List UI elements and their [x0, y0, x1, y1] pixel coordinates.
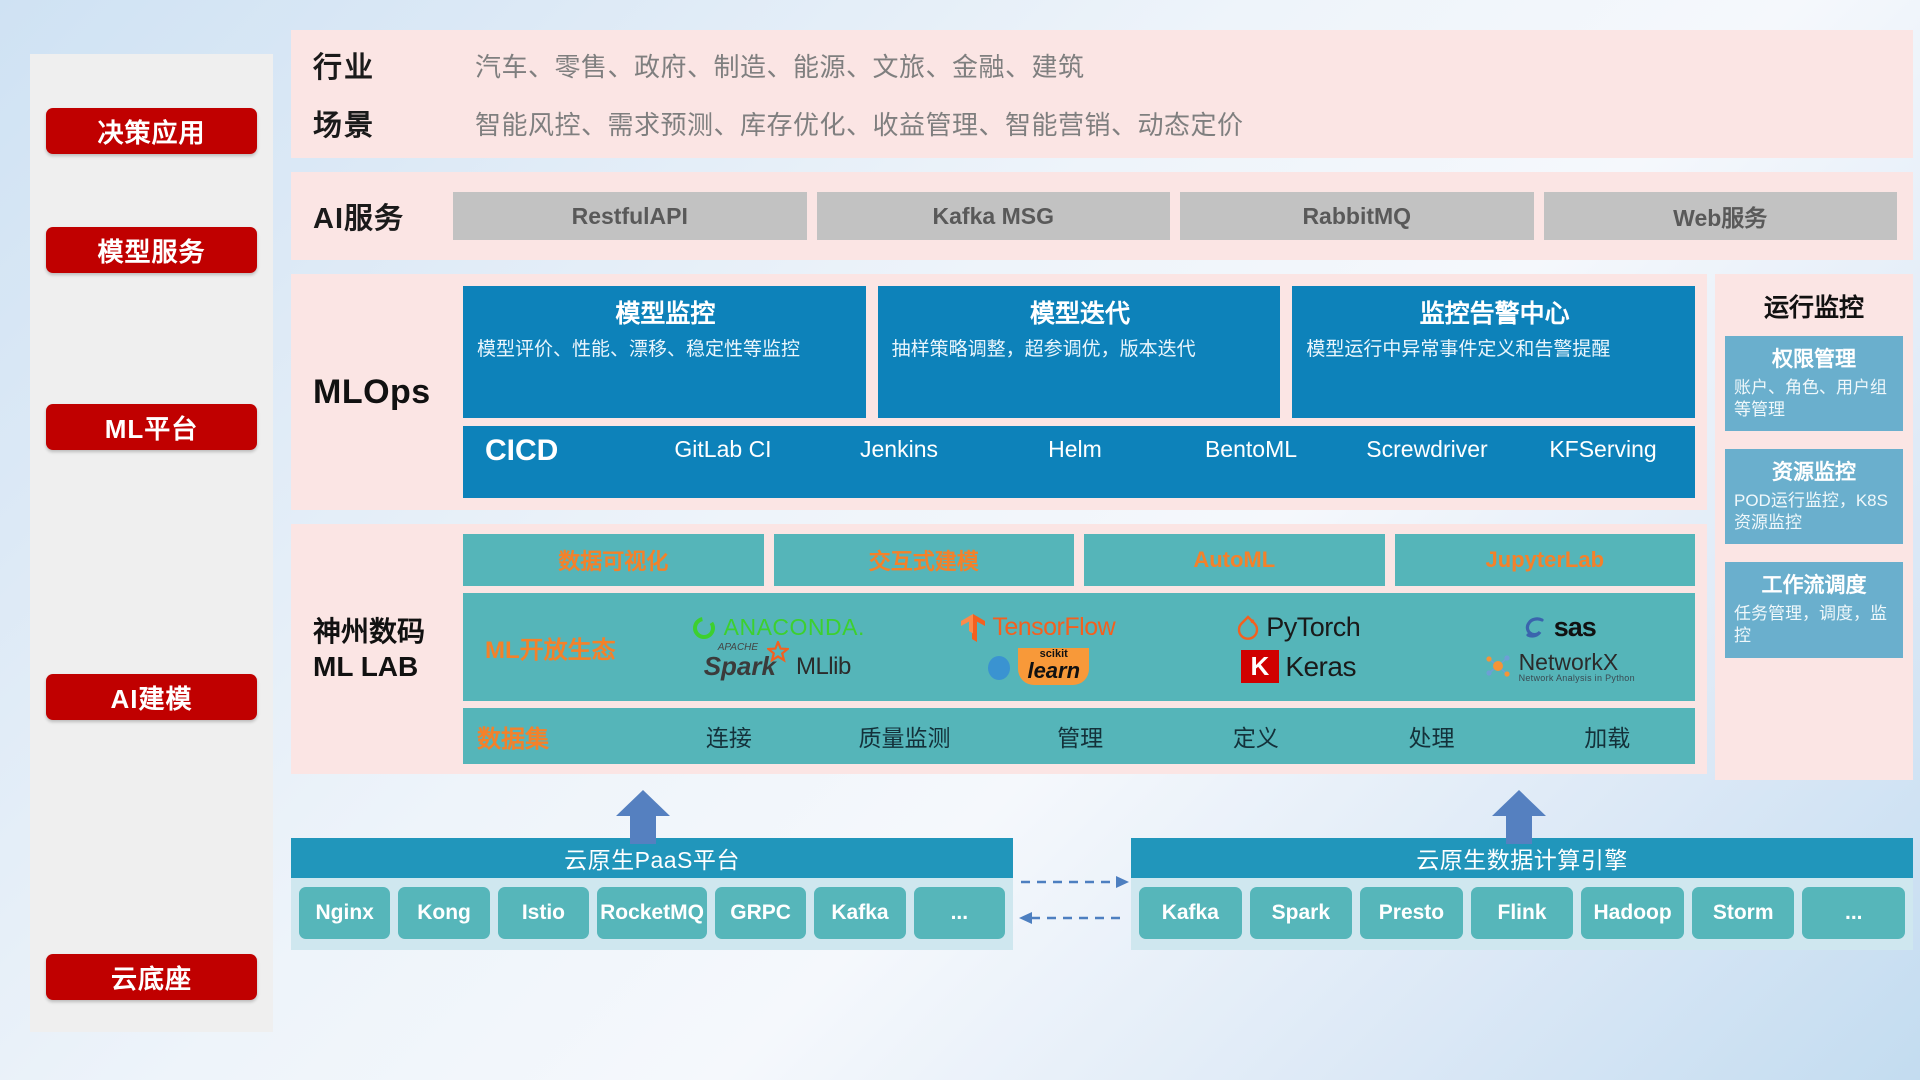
- pytorch-logo-text: PyTorch: [1266, 612, 1360, 643]
- compute-chip-more[interactable]: ...: [1802, 887, 1905, 939]
- spark-wordmark: APACHE Spark: [704, 651, 776, 682]
- ai-modeling-band: 神州数码 ML LAB 数据可视化 交互式建模 AutoML JupyterLa…: [291, 524, 1913, 774]
- paas-platform-group: 云原生PaaS平台 Nginx Kong Istio RocketMQ GRPC…: [291, 838, 1013, 950]
- spark-label: Spark: [704, 651, 776, 681]
- paas-chip-kong[interactable]: Kong: [398, 887, 489, 939]
- data-compute-engine-title: 云原生数据计算引擎: [1131, 838, 1913, 878]
- mlops-label: MLOps: [313, 373, 463, 412]
- compute-chip-presto[interactable]: Presto: [1360, 887, 1463, 939]
- paas-chip-kafka[interactable]: Kafka: [814, 887, 905, 939]
- stage-chip-decision-app[interactable]: 决策应用: [46, 108, 257, 154]
- paas-chip-istio[interactable]: Istio: [498, 887, 589, 939]
- paas-chip-row: Nginx Kong Istio RocketMQ GRPC Kafka ...: [291, 878, 1013, 950]
- tool-jupyterlab[interactable]: JupyterLab: [1395, 534, 1696, 586]
- scenario-value: 智能风控、需求预测、库存优化、收益管理、智能营销、动态定价: [475, 105, 1913, 142]
- cicd-item-bentoml[interactable]: BentoML: [1163, 434, 1339, 466]
- monitor-card-resource[interactable]: 资源监控 POD运行监控，K8S资源监控: [1725, 449, 1903, 544]
- dataset-item-load[interactable]: 加载: [1519, 719, 1695, 753]
- spark-mllib-logo: APACHE Spark MLlib: [704, 651, 851, 682]
- stage-rail: 决策应用 模型服务 ML平台 AI建模 云底座: [30, 54, 273, 1032]
- networkx-subtitle: Network Analysis in Python: [1519, 674, 1635, 683]
- ai-service-chip-kafka-msg[interactable]: Kafka MSG: [817, 192, 1171, 240]
- cloud-foundation-band: 云原生PaaS平台 Nginx Kong Istio RocketMQ GRPC…: [291, 774, 1913, 950]
- architecture-diagram: 决策应用 模型服务 ML平台 AI建模 云底座 行业 汽车、零售、政府、制造、能…: [0, 0, 1920, 1080]
- paas-platform-title: 云原生PaaS平台: [291, 838, 1013, 878]
- apache-label: APACHE: [718, 642, 758, 653]
- runtime-monitor-title: 运行监控: [1725, 288, 1903, 324]
- ml-ecosystem-logo-grid: ANACONDA. TensorFlow: [649, 609, 1687, 685]
- ml-lab-label-line2: ML LAB: [313, 649, 463, 684]
- tensorflow-logo: TensorFlow: [960, 613, 1115, 643]
- networkx-logo-text: NetworkX: [1519, 650, 1635, 674]
- cicd-item-screwdriver[interactable]: Screwdriver: [1339, 434, 1515, 466]
- mlops-content: 模型监控 模型评价、性能、漂移、稳定性等监控 模型迭代 抽样策略调整，超参调优，…: [463, 286, 1695, 498]
- tool-interactive-modeling[interactable]: 交互式建模: [774, 534, 1075, 586]
- ml-lab-content: 数据可视化 交互式建模 AutoML JupyterLab ML开放生态: [463, 534, 1695, 764]
- keras-logo: K Keras: [1241, 650, 1356, 683]
- stage-chip-ml-platform[interactable]: ML平台: [46, 404, 257, 450]
- ml-lab-label: 神州数码 ML LAB: [313, 614, 463, 684]
- monitor-card-permission[interactable]: 权限管理 账户、角色、用户组等管理: [1725, 336, 1903, 431]
- scikit-blue-dot-icon: [986, 653, 1012, 681]
- cicd-bar: CICD GitLab CI Jenkins Helm BentoML Scre…: [463, 426, 1695, 498]
- cicd-label: CICD: [485, 434, 635, 468]
- bands-column: 行业 汽车、零售、政府、制造、能源、文旅、金融、建筑 场景 智能风控、需求预测、…: [291, 30, 1913, 1054]
- card-title: 工作流调度: [1734, 569, 1894, 599]
- up-arrow-icon-paas: [613, 788, 673, 844]
- tool-data-visualization[interactable]: 数据可视化: [463, 534, 764, 586]
- networkx-icon: [1483, 653, 1513, 679]
- dataset-item-manage[interactable]: 管理: [992, 719, 1168, 753]
- card-desc: 任务管理，调度，监控: [1734, 603, 1894, 647]
- ai-service-chip-rabbitmq[interactable]: RabbitMQ: [1180, 192, 1534, 240]
- compute-chip-kafka[interactable]: Kafka: [1139, 887, 1242, 939]
- spark-star-icon: [767, 641, 789, 663]
- networkx-logo: NetworkX Network Analysis in Python: [1483, 650, 1635, 684]
- ai-service-label: AI服务: [313, 195, 453, 237]
- tool-automl[interactable]: AutoML: [1084, 534, 1385, 586]
- pytorch-logo: PyTorch: [1236, 612, 1360, 643]
- card-title: 权限管理: [1734, 343, 1894, 373]
- mlops-card-alert-center[interactable]: 监控告警中心 模型运行中异常事件定义和告警提醒: [1292, 286, 1695, 418]
- card-desc: 模型运行中异常事件定义和告警提醒: [1306, 338, 1683, 363]
- dataset-item-quality-monitor[interactable]: 质量监测: [817, 719, 993, 753]
- tensorflow-icon: [960, 613, 986, 643]
- monitor-card-workflow[interactable]: 工作流调度 任务管理，调度，监控: [1725, 562, 1903, 657]
- band-divider-3: [291, 510, 1913, 524]
- industry-label: 行业: [313, 44, 475, 86]
- card-desc: 抽样策略调整，超参调优，版本迭代: [892, 338, 1269, 363]
- anaconda-logo: ANACONDA.: [690, 614, 865, 642]
- sas-logo: sas: [1522, 612, 1596, 643]
- compute-chip-spark[interactable]: Spark: [1250, 887, 1353, 939]
- compute-chip-storm[interactable]: Storm: [1692, 887, 1795, 939]
- paas-chip-nginx[interactable]: Nginx: [299, 887, 390, 939]
- cicd-item-kfserving[interactable]: KFServing: [1515, 434, 1691, 466]
- anaconda-logo-text: ANACONDA.: [724, 614, 865, 641]
- keras-logo-text: Keras: [1285, 651, 1356, 683]
- ml-ecosystem-label: ML开放生态: [471, 630, 649, 665]
- learn-label: learn: [1027, 660, 1080, 682]
- sas-logo-text: sas: [1554, 612, 1596, 643]
- anaconda-icon: [690, 614, 718, 642]
- compute-chip-flink[interactable]: Flink: [1471, 887, 1574, 939]
- band-divider: [291, 158, 1913, 172]
- ai-service-list: RestfulAPI Kafka MSG RabbitMQ Web服务: [453, 192, 1913, 240]
- paas-chip-more[interactable]: ...: [914, 887, 1005, 939]
- up-arrow-icon-compute: [1489, 788, 1549, 844]
- stage-chip-ai-modeling[interactable]: AI建模: [46, 674, 257, 720]
- mllib-logo-text: MLlib: [796, 653, 851, 681]
- scikit-learn-badge: scikit learn: [1018, 648, 1089, 685]
- card-title: 模型迭代: [892, 294, 1269, 330]
- cicd-item-jenkins[interactable]: Jenkins: [811, 434, 987, 466]
- dataset-bar: 数据集 连接 质量监测 管理 定义 处理 加载: [463, 708, 1695, 764]
- mlops-card-list: 模型监控 模型评价、性能、漂移、稳定性等监控 模型迭代 抽样策略调整，超参调优，…: [463, 286, 1695, 418]
- ml-lab-panel: 神州数码 ML LAB 数据可视化 交互式建模 AutoML JupyterLa…: [291, 524, 1707, 774]
- runtime-monitor-column: 运行监控 权限管理 账户、角色、用户组等管理 资源监控 POD运行监控，K8S资…: [1715, 274, 1913, 780]
- cicd-item-helm[interactable]: Helm: [987, 434, 1163, 466]
- dataset-item-define[interactable]: 定义: [1168, 719, 1344, 753]
- card-title: 模型监控: [477, 294, 854, 330]
- compute-chip-row: Kafka Spark Presto Flink Hadoop Storm ..…: [1131, 878, 1913, 950]
- industry-value: 汽车、零售、政府、制造、能源、文旅、金融、建筑: [475, 47, 1913, 84]
- sas-icon: [1522, 614, 1548, 642]
- ai-service-chip-web[interactable]: Web服务: [1544, 192, 1898, 240]
- stage-chip-cloud-foundation[interactable]: 云底座: [46, 954, 257, 1000]
- card-title: 资源监控: [1734, 456, 1894, 486]
- application-band: 行业 汽车、零售、政府、制造、能源、文旅、金融、建筑 场景 智能风控、需求预测、…: [291, 30, 1913, 158]
- data-compute-engine-group: 云原生数据计算引擎 Kafka Spark Presto Flink Hadoo…: [1131, 838, 1913, 950]
- scenario-label: 场景: [313, 102, 475, 144]
- paas-chip-rocketmq[interactable]: RocketMQ: [597, 887, 707, 939]
- keras-mark-icon: K: [1241, 650, 1280, 683]
- card-desc: 账户、角色、用户组等管理: [1734, 377, 1894, 421]
- ml-lab-tool-row: 数据可视化 交互式建模 AutoML JupyterLab: [463, 534, 1695, 586]
- card-desc: POD运行监控，K8S资源监控: [1734, 490, 1894, 534]
- dataset-item-process[interactable]: 处理: [1344, 719, 1520, 753]
- compute-chip-hadoop[interactable]: Hadoop: [1581, 887, 1684, 939]
- scikit-learn-logo: scikit learn: [986, 648, 1089, 685]
- mlops-panel: MLOps 模型监控 模型评价、性能、漂移、稳定性等监控 模型迭代 抽样策略调整…: [291, 274, 1707, 510]
- ai-service-band: AI服务 RestfulAPI Kafka MSG RabbitMQ Web服务: [291, 172, 1913, 260]
- band-divider-2: [291, 260, 1913, 274]
- ml-ecosystem-box: ML开放生态 ANACONDA.: [463, 593, 1695, 701]
- networkx-wordmark: NetworkX Network Analysis in Python: [1519, 650, 1635, 684]
- dataset-item-connect[interactable]: 连接: [641, 719, 817, 753]
- card-desc: 模型评价、性能、漂移、稳定性等监控: [477, 338, 854, 363]
- dataset-label: 数据集: [477, 719, 641, 754]
- mlops-card-model-monitoring[interactable]: 模型监控 模型评价、性能、漂移、稳定性等监控: [463, 286, 866, 418]
- paas-chip-grpc[interactable]: GRPC: [715, 887, 806, 939]
- ai-service-chip-restfulapi[interactable]: RestfulAPI: [453, 192, 807, 240]
- pytorch-icon: [1236, 614, 1260, 642]
- ml-platform-band: MLOps 模型监控 模型评价、性能、漂移、稳定性等监控 模型迭代 抽样策略调整…: [291, 274, 1913, 510]
- mlops-card-model-iteration[interactable]: 模型迭代 抽样策略调整，超参调优，版本迭代: [878, 286, 1281, 418]
- bidirectional-link-icon: [1017, 866, 1131, 932]
- cicd-item-gitlab-ci[interactable]: GitLab CI: [635, 434, 811, 466]
- card-title: 监控告警中心: [1306, 294, 1683, 330]
- stage-chip-model-service[interactable]: 模型服务: [46, 227, 257, 273]
- ml-lab-label-line1: 神州数码: [313, 614, 463, 649]
- tensorflow-logo-text: TensorFlow: [992, 613, 1115, 642]
